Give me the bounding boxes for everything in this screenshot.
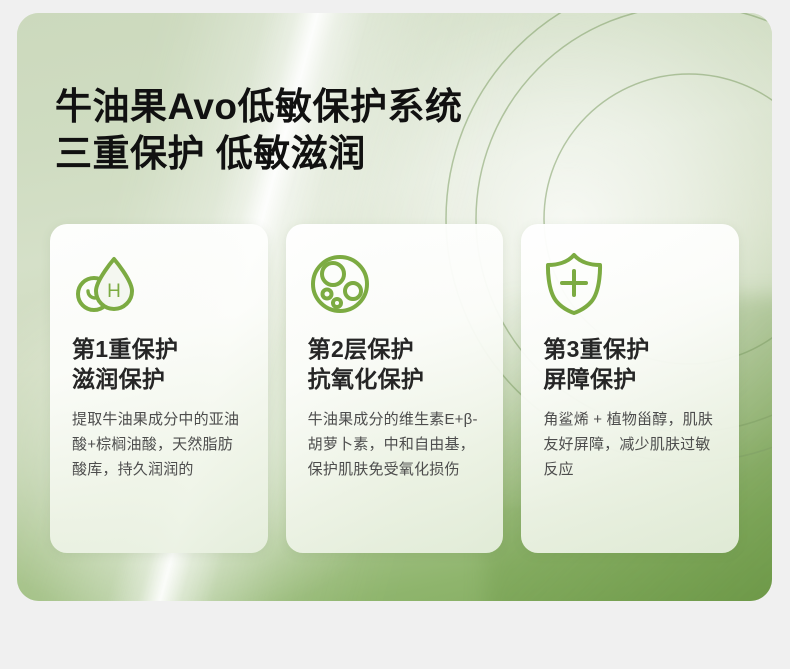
protection-cards-row: H 第1重保护 滋润保护 提取牛油果成分中的亚油酸+棕榈油酸，天然脂肪酸库，持久… [50, 224, 739, 553]
promo-banner: 牛油果Avo低敏保护系统 三重保护 低敏滋润 H 第1重保护 滋润保护 提取牛油… [17, 13, 772, 601]
card-2-body: 牛油果成分的维生素E+β-胡萝卜素，中和自由基，保护肌肤免受氧化损伤 [308, 407, 482, 482]
card-1-title: 第1重保护 滋润保护 [72, 334, 246, 394]
card-2-title: 第2层保护 抗氧化保护 [308, 334, 482, 394]
card-2-icon-wrap [308, 250, 482, 318]
headline-line-2: 三重保护 低敏滋润 [55, 130, 463, 177]
banner-headline: 牛油果Avo低敏保护系统 三重保护 低敏滋润 [55, 83, 463, 177]
card-3-title-line-2: 屏障保护 [543, 364, 717, 394]
card-1-icon-letter: H [107, 281, 121, 302]
card-2-title-line-2: 抗氧化保护 [308, 364, 482, 394]
card-3-icon-wrap [543, 250, 717, 318]
card-1-icon-wrap: H [72, 250, 246, 318]
card-3-body: 角鲨烯 + 植物甾醇，肌肤友好屏障，减少肌肤过敏反应 [543, 407, 717, 482]
headline-line-1: 牛油果Avo低敏保护系统 [55, 83, 463, 130]
card-1-body: 提取牛油果成分中的亚油酸+棕榈油酸，天然脂肪酸库，持久润润的 [72, 407, 246, 482]
protection-card-2[interactable]: 第2层保护 抗氧化保护 牛油果成分的维生素E+β-胡萝卜素，中和自由基，保护肌肤… [286, 224, 504, 553]
card-3-title: 第3重保护 屏障保护 [543, 334, 717, 394]
antioxidant-bubbles-icon [308, 253, 372, 315]
shield-plus-barrier-icon [543, 251, 605, 317]
card-3-title-line-1: 第3重保护 [543, 334, 717, 364]
protection-card-3[interactable]: 第3重保护 屏障保护 角鲨烯 + 植物甾醇，肌肤友好屏障，减少肌肤过敏反应 [521, 224, 739, 553]
card-1-title-line-1: 第1重保护 [72, 334, 246, 364]
protection-card-1[interactable]: H 第1重保护 滋润保护 提取牛油果成分中的亚油酸+棕榈油酸，天然脂肪酸库，持久… [50, 224, 268, 553]
card-2-title-line-1: 第2层保护 [308, 334, 482, 364]
card-1-title-line-2: 滋润保护 [72, 364, 246, 394]
water-drop-hydration-icon: H [72, 253, 138, 315]
